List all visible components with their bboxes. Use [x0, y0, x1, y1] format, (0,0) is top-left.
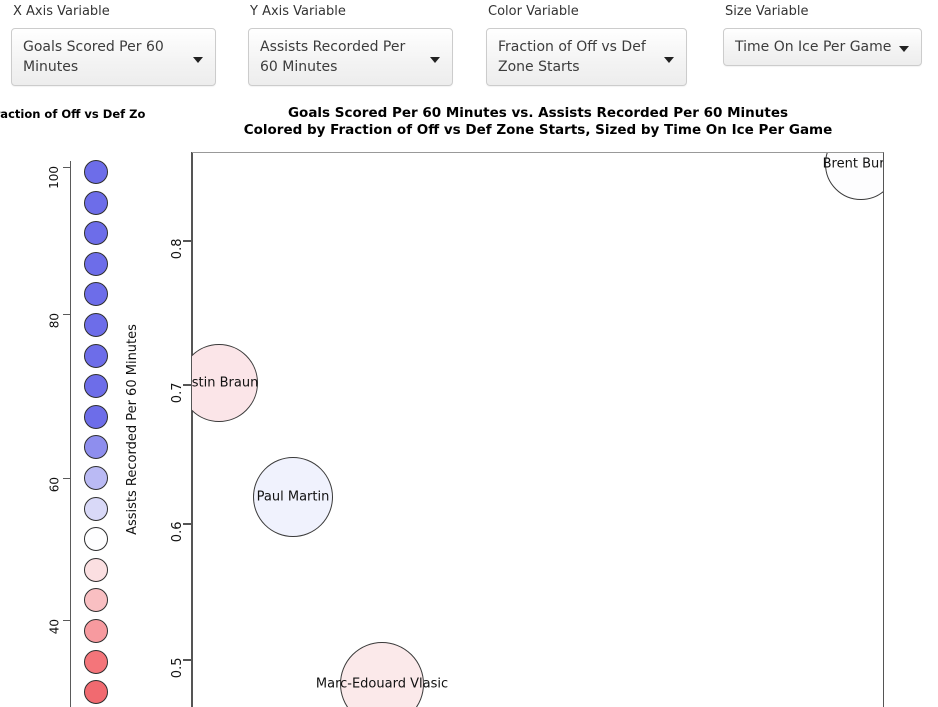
color-variable-value: Fraction of Off vs Def Zone Starts	[498, 37, 656, 77]
size-variable-select[interactable]: Time On Ice Per Game	[723, 28, 922, 66]
chart-title-line1: Goals Scored Per 60 Minutes vs. Assists …	[192, 105, 884, 122]
chevron-down-icon[interactable]	[899, 46, 909, 52]
color-legend-swatch	[84, 527, 108, 551]
x-axis-variable-select[interactable]: Goals Scored Per 60 Minutes	[11, 28, 216, 86]
chevron-down-icon[interactable]	[664, 57, 674, 63]
color-legend-title: raction of Off vs Def Zo	[0, 107, 170, 121]
y-axis-variable-label: Y Axis Variable	[248, 4, 453, 20]
color-legend-swatch	[84, 466, 108, 490]
size-variable-value: Time On Ice Per Game	[735, 37, 891, 57]
plot-panel: Brent BurnsJustin BraunPaul MartinMarc-E…	[192, 152, 884, 707]
color-legend-swatch	[84, 191, 108, 215]
color-legend-swatch	[84, 588, 108, 612]
chevron-down-icon[interactable]	[430, 57, 440, 63]
color-legend-swatch	[84, 282, 108, 306]
x-axis-variable-control: X Axis Variable Goals Scored Per 60 Minu…	[11, 4, 216, 86]
color-legend-tick-label: 40	[47, 619, 61, 634]
color-legend-swatch	[84, 344, 108, 368]
color-legend-tick-label: 100	[47, 166, 61, 189]
color-variable-control: Color Variable Fraction of Off vs Def Zo…	[486, 4, 687, 86]
color-legend: raction of Off vs Def Zo 100806040	[0, 105, 130, 707]
color-legend-swatch	[84, 680, 108, 704]
scatter-bubble[interactable]	[340, 642, 424, 707]
color-legend-swatch	[84, 558, 108, 582]
color-variable-select[interactable]: Fraction of Off vs Def Zone Starts	[486, 28, 687, 86]
color-legend-swatch	[84, 252, 108, 276]
color-legend-tick-label: 60	[47, 477, 61, 492]
color-legend-tick	[63, 167, 70, 168]
y-axis-title-text: Assists Recorded Per 60 Minutes	[125, 324, 140, 535]
scatter-layer: Brent BurnsJustin BraunPaul MartinMarc-E…	[192, 153, 883, 707]
color-legend-tick	[63, 620, 70, 621]
color-legend-tick	[63, 478, 70, 479]
y-axis-tick-label: 0.6	[0, 514, 178, 529]
x-axis-variable-label: X Axis Variable	[11, 4, 216, 20]
y-axis-tick-label: 0.8	[0, 231, 178, 246]
color-legend-swatch	[84, 405, 108, 429]
y-axis-tick-label: 0.7	[0, 375, 178, 390]
chevron-down-icon[interactable]	[193, 57, 203, 63]
size-variable-control: Size Variable Time On Ice Per Game	[723, 4, 922, 66]
scatter-bubble[interactable]	[253, 457, 333, 537]
y-axis-tick-label: 0.5	[0, 650, 178, 665]
color-legend-swatch	[84, 160, 108, 184]
scatter-bubble[interactable]	[825, 153, 883, 200]
size-variable-label: Size Variable	[723, 4, 922, 20]
color-legend-swatch	[84, 435, 108, 459]
x-axis-variable-value: Goals Scored Per 60 Minutes	[23, 37, 185, 77]
chart-title-line2: Colored by Fraction of Off vs Def Zone S…	[192, 122, 884, 139]
chart-title: Goals Scored Per 60 Minutes vs. Assists …	[192, 105, 884, 139]
y-axis-variable-select[interactable]: Assists Recorded Per 60 Minutes	[248, 28, 453, 86]
color-legend-swatch	[84, 313, 108, 337]
control-bar: X Axis Variable Goals Scored Per 60 Minu…	[0, 0, 938, 100]
color-legend-tick-label: 80	[47, 313, 61, 328]
y-axis-variable-value: Assists Recorded Per 60 Minutes	[260, 37, 422, 77]
scatter-bubble[interactable]	[192, 344, 258, 422]
color-legend-swatch	[84, 619, 108, 643]
color-legend-tick	[63, 314, 70, 315]
color-variable-label: Color Variable	[486, 4, 687, 20]
y-axis-variable-control: Y Axis Variable Assists Recorded Per 60 …	[248, 4, 453, 86]
